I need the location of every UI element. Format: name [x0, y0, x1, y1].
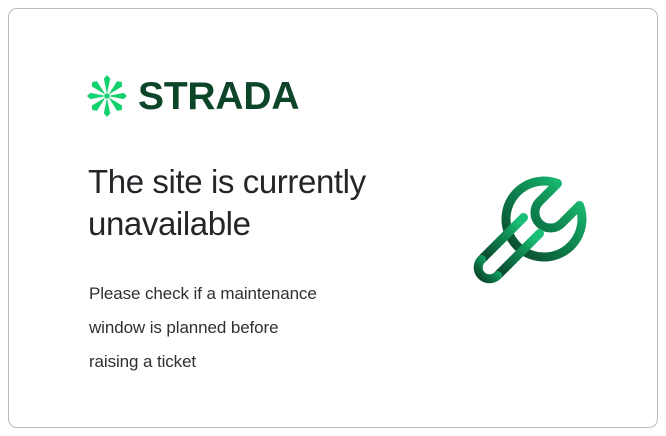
description-line: window is planned before [89, 311, 409, 345]
asterisk-snowflake-icon [87, 75, 127, 117]
page-title: The site is currently unavailable [88, 161, 418, 245]
description-line: Please check if a maintenance [89, 277, 409, 311]
page-description: Please check if a maintenance window is … [89, 277, 409, 379]
brand-wordmark: STRADA [138, 77, 299, 116]
brand-logo: STRADA [87, 75, 299, 117]
status-card: STRADA The site is currently unavailable… [8, 8, 658, 428]
error-page: STRADA The site is currently unavailable… [0, 0, 666, 436]
wrench-illustration [461, 161, 621, 321]
description-line: raising a ticket [89, 345, 409, 379]
